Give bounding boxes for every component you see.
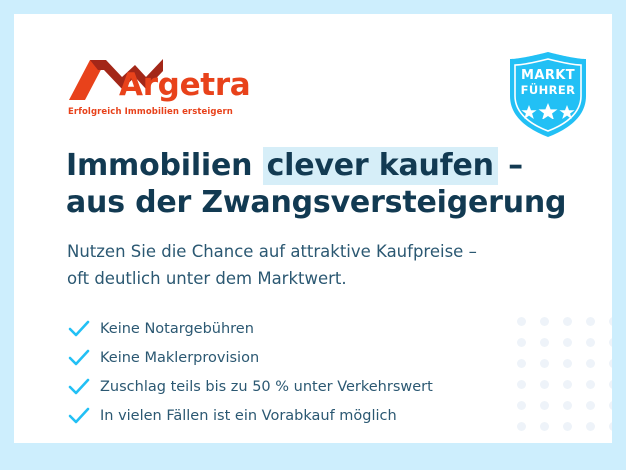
list-item-label: In vielen Fällen ist ein Vorabkauf mögli… bbox=[100, 408, 397, 424]
grid-dot bbox=[563, 422, 572, 431]
grid-dot bbox=[586, 422, 595, 431]
check-icon bbox=[67, 406, 91, 426]
badge-line-1: MARKT bbox=[504, 69, 592, 83]
list-item-label: Keine Notargebühren bbox=[100, 321, 254, 337]
grid-dot bbox=[563, 359, 572, 368]
logo-tagline: Erfolgreich Immobilien ersteigern bbox=[68, 107, 233, 117]
grid-dot bbox=[540, 380, 549, 389]
grid-dot bbox=[586, 338, 595, 347]
grid-dot bbox=[586, 380, 595, 389]
check-icon bbox=[67, 377, 91, 397]
grid-dot bbox=[609, 317, 612, 326]
check-icon bbox=[67, 319, 91, 339]
brand-logo[interactable]: Argetra Erfolgreich Immobilien ersteiger… bbox=[67, 58, 267, 120]
subtitle-line-2: oft deutlich unter dem Marktwert. bbox=[67, 265, 477, 292]
list-item: Zuschlag teils bis zu 50 % unter Verkehr… bbox=[67, 372, 537, 401]
subtitle-line-1: Nutzen Sie die Chance auf attraktive Kau… bbox=[67, 238, 477, 265]
badge-text: MARKT FÜHRER bbox=[504, 69, 592, 97]
badge-line-2: FÜHRER bbox=[504, 83, 592, 97]
headline-line-1-before: Immobilien bbox=[66, 148, 263, 183]
grid-dot bbox=[586, 359, 595, 368]
headline-line-1-after: – bbox=[498, 148, 523, 183]
market-leader-badge: MARKT FÜHRER bbox=[504, 50, 592, 140]
grid-dot bbox=[540, 317, 549, 326]
page-frame: Argetra Erfolgreich Immobilien ersteiger… bbox=[0, 0, 626, 470]
badge-stars bbox=[504, 103, 592, 124]
list-item-label: Keine Maklerprovision bbox=[100, 350, 259, 366]
grid-dot bbox=[609, 401, 612, 410]
grid-dot bbox=[563, 401, 572, 410]
grid-dot bbox=[609, 359, 612, 368]
benefit-list: Keine Notargebühren Keine Maklerprovisio… bbox=[67, 314, 537, 430]
page-title: Immobilien clever kaufen – aus der Zwang… bbox=[66, 147, 566, 221]
check-icon bbox=[67, 348, 91, 368]
list-item: Keine Maklerprovision bbox=[67, 343, 537, 372]
grid-dot bbox=[563, 380, 572, 389]
grid-dot bbox=[540, 401, 549, 410]
grid-dot bbox=[609, 338, 612, 347]
grid-dot bbox=[609, 380, 612, 389]
headline-highlight: clever kaufen bbox=[263, 147, 498, 185]
headline-line-2: aus der Zwangsversteigerung bbox=[66, 184, 566, 221]
grid-dot bbox=[563, 338, 572, 347]
grid-dot bbox=[540, 359, 549, 368]
shield-icon bbox=[504, 127, 592, 144]
list-item-label: Zuschlag teils bis zu 50 % unter Verkehr… bbox=[100, 379, 433, 395]
list-item: Keine Notargebühren bbox=[67, 314, 537, 343]
grid-dot bbox=[540, 338, 549, 347]
grid-dot bbox=[540, 422, 549, 431]
headline-line-1: Immobilien clever kaufen – bbox=[66, 147, 566, 184]
grid-dot bbox=[586, 401, 595, 410]
promo-card: Argetra Erfolgreich Immobilien ersteiger… bbox=[14, 14, 612, 443]
list-item: In vielen Fällen ist ein Vorabkauf mögli… bbox=[67, 401, 537, 430]
logo-wordmark: Argetra bbox=[119, 70, 250, 101]
grid-dot bbox=[609, 422, 612, 431]
grid-dot bbox=[563, 317, 572, 326]
grid-dot bbox=[586, 317, 595, 326]
page-subtitle: Nutzen Sie die Chance auf attraktive Kau… bbox=[67, 238, 477, 292]
